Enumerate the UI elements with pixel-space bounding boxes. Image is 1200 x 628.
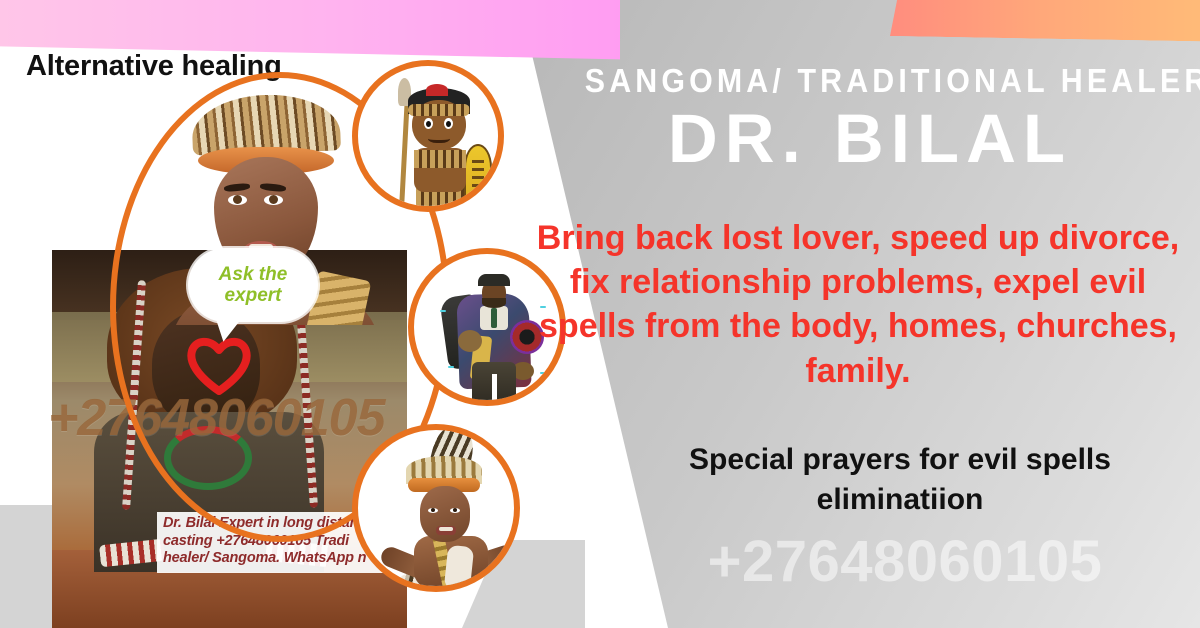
warrior-pupil-left: [426, 121, 431, 127]
warrior-headband: [408, 104, 470, 116]
circle-crouching-dancer: [352, 424, 520, 592]
services-text: Bring back lost lover, speed up divorce,…: [528, 216, 1188, 393]
healer-beard: [482, 298, 506, 308]
healer-shoe-right: [500, 400, 518, 406]
kicker-text: SANGOMA/ TRADITIONAL HEALER: [585, 62, 1155, 100]
dancer-pupil-right: [453, 508, 457, 512]
bottom-left-gray-strip: [0, 505, 52, 628]
poster-canvas: Alternative healing: [0, 0, 1200, 628]
phone-watermark: +27648060105: [610, 528, 1200, 595]
dancer-arm-wrap: [444, 545, 474, 591]
sparkle-3: [448, 366, 454, 368]
dancer-teeth: [439, 527, 453, 531]
healer-name: DR. BILAL: [560, 104, 1180, 173]
warrior-shield-pattern: [472, 160, 484, 204]
healer-hat: [478, 274, 510, 286]
healer-shoe-left: [470, 400, 488, 406]
warrior-fur-collar: [414, 150, 466, 168]
dancer-pupil-left: [431, 508, 435, 512]
circle-zulu-warrior: [352, 60, 504, 212]
warrior-pupil-right: [446, 121, 451, 127]
healer-tie: [491, 308, 497, 328]
warrior-leg-right: [445, 208, 459, 212]
sparkle-1: [440, 310, 446, 312]
warrior-red-plume: [426, 84, 448, 96]
special-prayers-text: Special prayers for evil spells eliminat…: [610, 440, 1190, 520]
warrior-leg-left: [421, 208, 435, 212]
warrior-smile: [428, 132, 450, 143]
healer-bag-left: [458, 330, 482, 352]
orange-gradient-bar: [890, 0, 1200, 42]
healer-leg-gap: [492, 374, 497, 404]
